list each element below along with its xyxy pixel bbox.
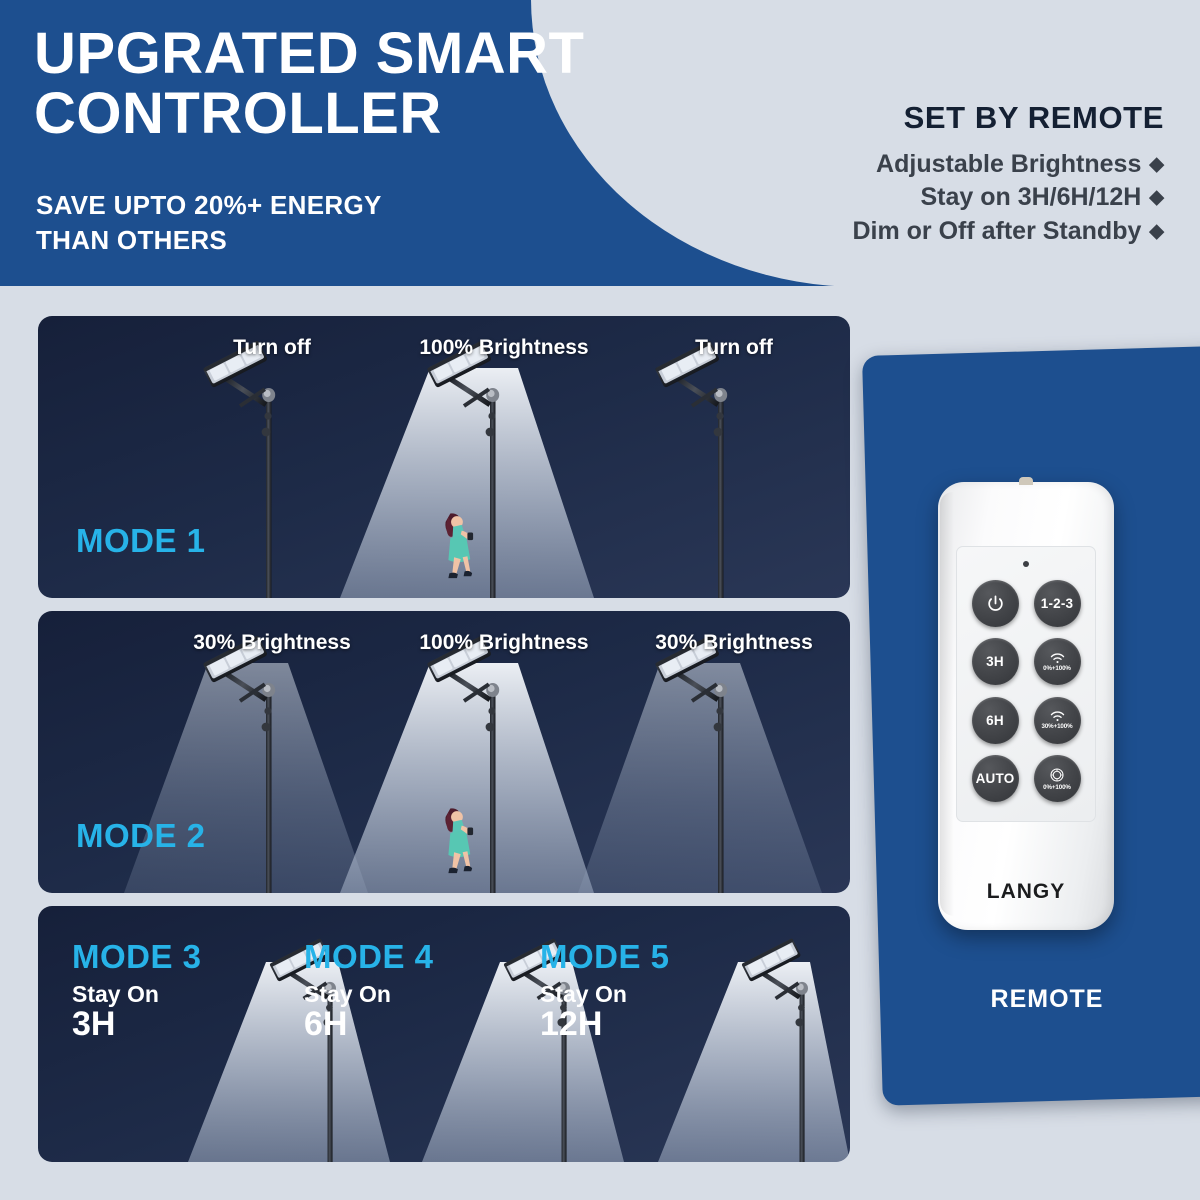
set-by-remote-block: SET BY REMOTE Adjustable Brightness◆ Sta… xyxy=(744,100,1164,248)
mode-2-panel: 30% Brightness 100% Brightness 30% Brigh… xyxy=(38,611,850,893)
scene-123-label: 1-2-3 xyxy=(1041,596,1074,611)
diamond-bullet-icon: ◆ xyxy=(1149,152,1164,177)
feature-item-3: Dim or Off after Standby◆ xyxy=(744,215,1164,248)
timer-6h-label: 6H xyxy=(986,713,1004,728)
remote-ir-emitter xyxy=(1019,477,1033,485)
sensor-30-100-button[interactable]: 30%+100% xyxy=(1034,697,1081,744)
remote-caption: REMOTE xyxy=(862,985,1200,1014)
infographic-root: UPGRATED SMART CONTROLLER SAVE UPTO 20%+… xyxy=(0,0,1200,1200)
mode-3-hours: 3H xyxy=(72,1006,159,1043)
timer-3h-label: 3H xyxy=(986,654,1004,669)
timer-dial-sublabel: 0%+100% xyxy=(1043,784,1071,791)
power-icon xyxy=(986,594,1005,613)
mode-2-label: MODE 2 xyxy=(76,817,206,855)
timer-6h-button[interactable]: 6H xyxy=(972,697,1019,744)
diamond-bullet-icon: ◆ xyxy=(1149,185,1164,210)
mode-1-caption-right: Turn off xyxy=(695,336,773,360)
remote-keypad: 1-2-3 3H 0%+100% xyxy=(956,546,1096,822)
diamond-bullet-icon: ◆ xyxy=(1149,219,1164,244)
mode-1-label: MODE 1 xyxy=(76,522,206,560)
mode-4-hours: 6H xyxy=(304,1006,391,1043)
timer-icon xyxy=(1049,767,1065,783)
page-subtitle-line2: THAN OTHERS xyxy=(36,223,556,258)
scene-123-button[interactable]: 1-2-3 xyxy=(1034,580,1081,627)
auto-button[interactable]: AUTO xyxy=(972,755,1019,802)
sensor-30-100-sublabel: 30%+100% xyxy=(1041,723,1072,730)
mode-5-hours: 12H xyxy=(540,1006,627,1043)
remote-brand-logo: LANGY xyxy=(938,880,1114,904)
mode-5-label: MODE 5 xyxy=(540,938,670,976)
page-title-line1: UPGRATED SMART xyxy=(34,24,734,84)
feature-item-2: Stay on 3H/6H/12H◆ xyxy=(744,181,1164,214)
feature-item-1: Adjustable Brightness◆ xyxy=(744,148,1164,181)
mode-4-stay-on-text: Stay On xyxy=(304,982,391,1006)
mode-1-caption-center: 100% Brightness xyxy=(419,336,588,360)
mode-3-4-5-panel: MODE 3 Stay On 3H MODE 4 Stay On 6H MODE… xyxy=(38,906,850,1162)
signal-icon xyxy=(1049,652,1066,664)
mode-4-duration: Stay On 6H xyxy=(304,982,391,1044)
mode-5-duration: Stay On 12H xyxy=(540,982,627,1044)
mode-2-caption-left: 30% Brightness xyxy=(193,631,351,655)
auto-label: AUTO xyxy=(976,771,1015,786)
sensor-0-100-sublabel: 0%+100% xyxy=(1043,665,1071,672)
page-subtitle-line1: SAVE UPTO 20%+ ENERGY xyxy=(36,188,556,223)
mode-1-panel: Turn off 100% Brightness Turn off MODE 1 xyxy=(38,316,850,598)
set-by-remote-title: SET BY REMOTE xyxy=(744,100,1164,136)
power-button[interactable] xyxy=(972,580,1019,627)
sensor-0-100-button[interactable]: 0%+100% xyxy=(1034,638,1081,685)
mode-1-caption-left: Turn off xyxy=(233,336,311,360)
mode-3-stay-on-text: Stay On xyxy=(72,982,159,1006)
page-title: UPGRATED SMART CONTROLLER xyxy=(34,24,734,143)
timer-dial-0-100-button[interactable]: 0%+100% xyxy=(1034,755,1081,802)
remote-body: 1-2-3 3H 0%+100% xyxy=(938,482,1114,930)
page-title-line2: CONTROLLER xyxy=(34,84,734,144)
mode-4-label: MODE 4 xyxy=(304,938,434,976)
led-indicator-icon xyxy=(1023,561,1029,567)
timer-3h-button[interactable]: 3H xyxy=(972,638,1019,685)
feature-item-3-label: Dim or Off after Standby xyxy=(852,217,1141,245)
mode-2-caption-right: 30% Brightness xyxy=(655,631,813,655)
page-subtitle: SAVE UPTO 20%+ ENERGY THAN OTHERS xyxy=(36,188,556,257)
mode-3-label: MODE 3 xyxy=(72,938,202,976)
mode-3-duration: Stay On 3H xyxy=(72,982,159,1044)
feature-item-2-label: Stay on 3H/6H/12H xyxy=(920,183,1141,211)
mode-5-stay-on-text: Stay On xyxy=(540,982,627,1006)
remote-button-grid: 1-2-3 3H 0%+100% xyxy=(969,577,1083,805)
mode-2-caption-center: 100% Brightness xyxy=(419,631,588,655)
signal-icon xyxy=(1049,710,1066,722)
feature-item-1-label: Adjustable Brightness xyxy=(876,150,1141,178)
remote-control[interactable]: 1-2-3 3H 0%+100% xyxy=(938,482,1114,930)
